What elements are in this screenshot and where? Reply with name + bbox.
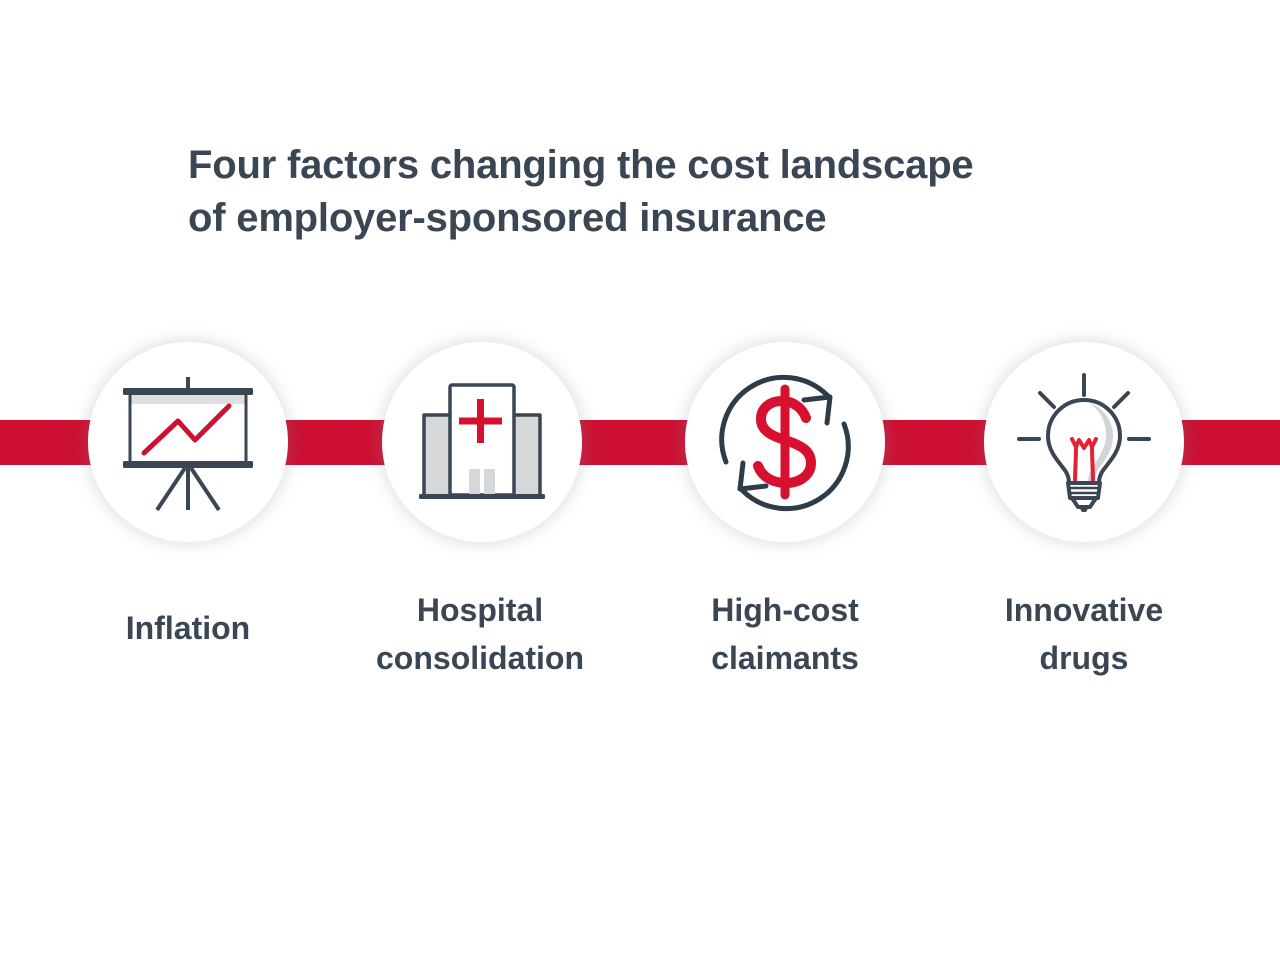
infographic-slide: Four factors changing the cost landscape… [0,0,1280,962]
page-title: Four factors changing the cost landscape… [188,139,1118,245]
node-high-cost-claimants[interactable] [685,342,885,542]
node-innovative-drugs[interactable] [984,342,1184,542]
hospital-building-icon [407,367,557,517]
node-label-inflation: Inflation [38,604,338,652]
node-hospital-consolidation[interactable] [382,342,582,542]
lightbulb-icon [1009,367,1159,517]
node-label-hospital-consolidation: Hospital consolidation [330,586,630,682]
node-label-innovative-drugs: Innovative drugs [934,586,1234,682]
dollar-cycle-icon [710,367,860,517]
node-inflation[interactable] [88,342,288,542]
presentation-chart-icon [113,367,263,517]
node-label-high-cost-claimants: High-cost claimants [635,586,935,682]
